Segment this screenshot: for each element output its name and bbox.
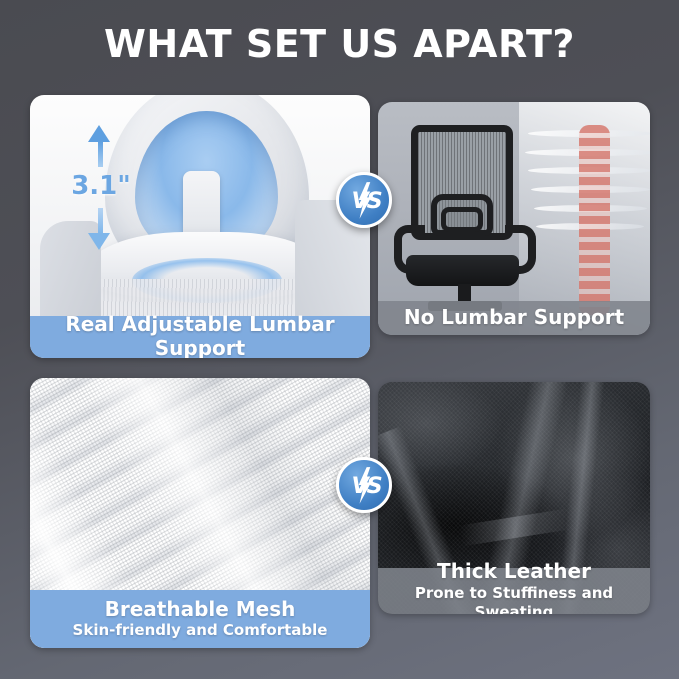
vs-lightning-icon: V S (339, 172, 389, 228)
spine-column-highlight (579, 125, 610, 316)
caption-main-text: No Lumbar Support (404, 306, 624, 330)
lumbar-travel-measurement: 3.1" (72, 125, 126, 250)
lumbar-adjust-knob (183, 171, 220, 239)
page-title: WHAT SET US APART? (104, 22, 575, 66)
caption-main-text: Thick Leather (437, 560, 591, 584)
panel-material-con: Thick Leather Prone to Stuffiness and Sw… (378, 382, 650, 614)
caption-sub-text: Prone to Stuffiness and Sweating (378, 584, 650, 614)
caption-main-text: Breathable Mesh (105, 598, 296, 622)
caption-material-pro: Breathable Mesh Skin-friendly and Comfor… (30, 590, 370, 648)
measurement-shaft-bottom (98, 208, 103, 234)
vs-badge-material: V S (336, 457, 392, 513)
vs-lightning-icon: V S (339, 457, 389, 513)
header-bar: WHAT SET US APART? (0, 0, 679, 88)
panel-lumbar-support-con: No Lumbar Support (378, 102, 650, 335)
caption-lumbar-pro: Real Adjustable Lumbar Support (30, 316, 370, 358)
chair-lumbar-frame-inner (441, 207, 483, 232)
caption-main-text: Real Adjustable Lumbar Support (30, 313, 370, 358)
caption-sub-text: Skin-friendly and Comfortable (73, 621, 328, 640)
panel-lumbar-support-pro: 3.1" Real Adjustable Lumbar Support (30, 95, 370, 358)
chair-seat-cushion (406, 255, 519, 286)
measurement-shaft-top (98, 141, 103, 167)
panel-material-pro: Breathable Mesh Skin-friendly and Comfor… (30, 378, 370, 648)
measurement-value: 3.1" (70, 171, 132, 201)
arrow-up-icon (88, 125, 110, 142)
office-chair-graphic (394, 125, 535, 316)
vs-badge-lumbar: V S (336, 172, 392, 228)
caption-material-con: Thick Leather Prone to Stuffiness and Sw… (378, 568, 650, 614)
arrow-down-icon (88, 233, 110, 250)
caption-lumbar-con: No Lumbar Support (378, 301, 650, 335)
